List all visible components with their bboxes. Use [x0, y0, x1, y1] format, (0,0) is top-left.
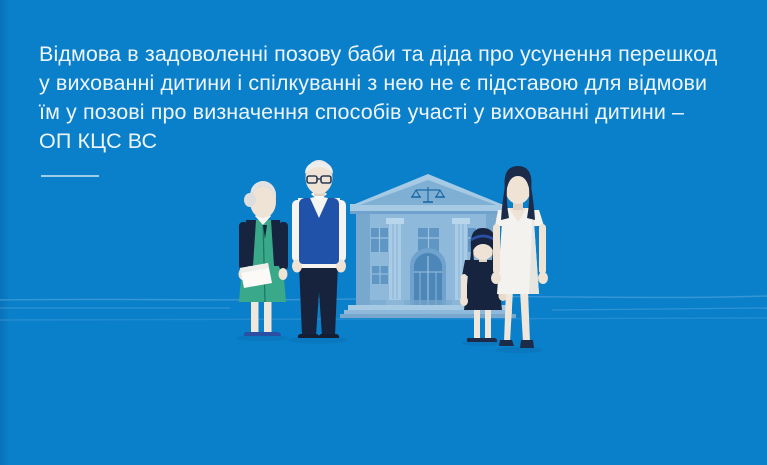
illustration	[0, 160, 767, 390]
headline-line-1: Відмова в задоволенні позову баби та дід…	[39, 42, 717, 66]
figure-elderly-woman	[236, 181, 288, 341]
illustration-svg	[0, 160, 767, 390]
news-card: Відмова в задоволенні позову баби та дід…	[0, 0, 767, 465]
headline-line-2: у вихованні дитини і спілкуванні з нею н…	[39, 71, 707, 95]
headline-line-4: ОП КЦС ВС	[39, 129, 157, 153]
headline-line-3: їм у позові про визначення способів учас…	[39, 100, 684, 124]
page-title: Відмова в задоволенні позову баби та дід…	[39, 40, 739, 156]
figure-woman	[491, 166, 548, 353]
figure-elderly-man	[288, 160, 348, 344]
building-entrance	[410, 248, 446, 305]
